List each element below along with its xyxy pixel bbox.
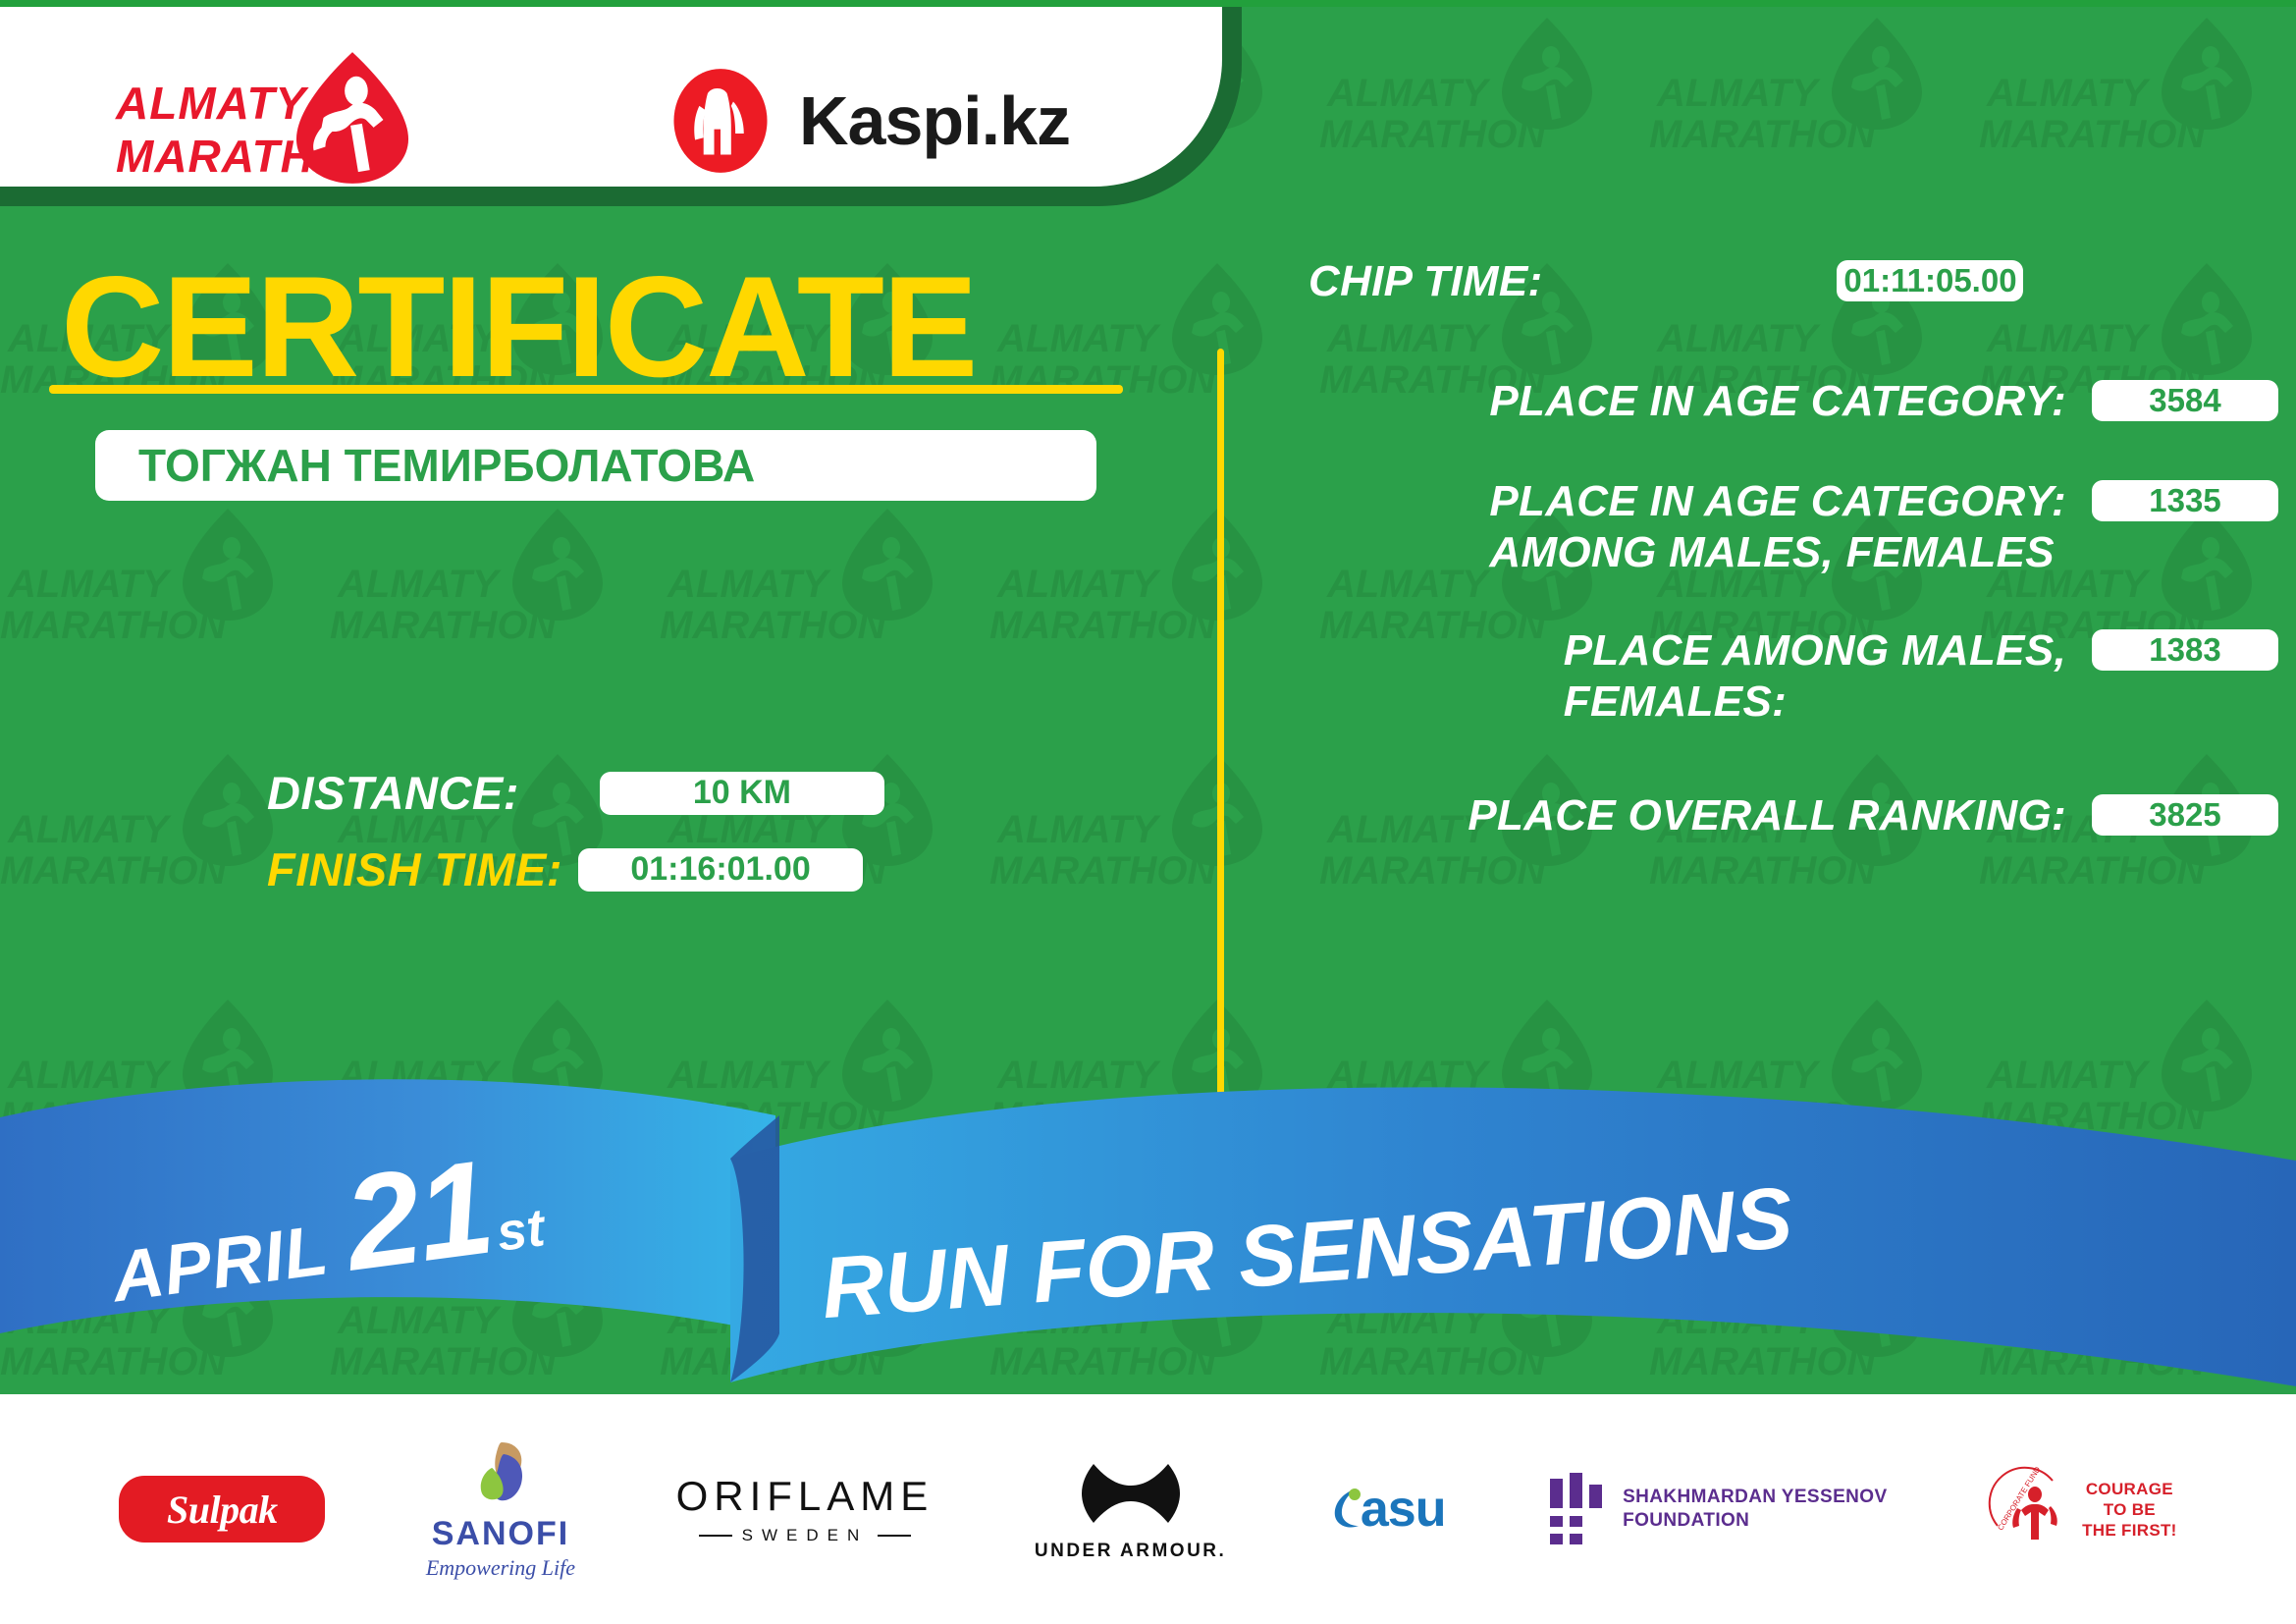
- title-underline: [49, 385, 1123, 394]
- page-title: CERTIFICATE: [61, 253, 976, 401]
- sponsor-logo-courage-to-be-the-first: CORPORATE FUND COURAGE TO BE THE FIRST!: [1988, 1465, 2177, 1553]
- participant-name-field: ТОГЖАН ТЕМИРБОЛАТОВА: [95, 430, 1096, 501]
- sanofi-mark-icon: [462, 1438, 539, 1513]
- sponsor-logo-sulpak: Sulpak: [119, 1476, 325, 1543]
- sponsor-bar: Sulpak SANOFI Empowering Life ORIFLAME S…: [0, 1394, 2296, 1624]
- asu-swoosh-icon: [1327, 1483, 1364, 1536]
- almaty-marathon-logo: ALMATYMARATHON: [116, 61, 440, 189]
- fund-line2: TO BE: [2104, 1500, 2156, 1519]
- result-value: 3825: [2092, 794, 2278, 836]
- result-value: 3584: [2092, 380, 2278, 421]
- under-armour-mark-icon: [1068, 1456, 1194, 1533]
- sponsor-logo-shakhmardan-yessenov-foundation: SHAKHMARDAN YESSENOV FOUNDATION: [1546, 1473, 1887, 1545]
- courage-fund-logo-text: COURAGE TO BE THE FIRST!: [2082, 1479, 2177, 1541]
- shakhmardan-line2: FOUNDATION: [1623, 1510, 1749, 1531]
- runner-drop-icon: [294, 49, 410, 187]
- result-value: 1335: [2092, 480, 2278, 521]
- distance-row: DISTANCE: 10 KM: [0, 766, 1222, 820]
- oriflame-logo-text: ORIFLAME: [676, 1473, 934, 1520]
- result-value: 1383: [2092, 629, 2278, 671]
- results-panel: CHIP TIME: 01:11:05.00 PLACE IN AGE CATE…: [1261, 241, 2296, 1124]
- event-month: APRIL: [108, 1210, 334, 1318]
- distance-label: DISTANCE:: [267, 766, 519, 820]
- sponsor-logo-asu: asu: [1327, 1480, 1446, 1539]
- top-green-rule: [0, 0, 2296, 7]
- kaspi-person-icon: [667, 68, 774, 174]
- finish-time-row: FINISH TIME: 01:16:01.00: [0, 842, 1222, 896]
- vertical-divider: [1217, 349, 1224, 1095]
- result-row: PLACE IN AGE CATEGORY: 3584: [1261, 376, 2296, 427]
- result-row: PLACE OVERALL RANKING: 3825: [1261, 790, 2296, 841]
- shakhmardan-logo-text: SHAKHMARDAN YESSENOV FOUNDATION: [1623, 1486, 1887, 1533]
- oriflame-sub-text: SWEDEN: [742, 1526, 869, 1545]
- result-row: PLACE IN AGE CATEGORY:AMONG MALES, FEMAL…: [1261, 476, 2296, 578]
- distance-value: 10 KM: [600, 772, 884, 815]
- almaty-logo-line1: ALMATY: [116, 78, 306, 129]
- result-label: PLACE AMONG MALES,FEMALES:: [1564, 625, 2066, 728]
- result-label: CHIP TIME:: [1308, 256, 1542, 307]
- kaspi-logo: Kaspi.kz: [667, 67, 1070, 175]
- sponsor-logo-under-armour: UNDER ARMOUR.: [1035, 1456, 1226, 1562]
- participant-name-value: ТОГЖАН ТЕМИРБОЛАТОВА: [138, 439, 755, 492]
- result-value: 01:11:05.00: [1837, 260, 2023, 301]
- finish-time-label: FINISH TIME:: [267, 842, 562, 896]
- result-label: PLACE OVERALL RANKING:: [1468, 790, 2066, 841]
- asu-logo-text: asu: [1361, 1480, 1446, 1539]
- event-day-suffix: st: [494, 1197, 549, 1264]
- sanofi-logo-text: SANOFI: [432, 1515, 569, 1553]
- result-row: PLACE AMONG MALES,FEMALES: 1383: [1261, 625, 2296, 728]
- shakhmardan-line1: SHAKHMARDAN YESSENOV: [1623, 1487, 1887, 1507]
- courage-fund-icon: CORPORATE FUND: [1988, 1465, 2072, 1553]
- oriflame-rule-left: [699, 1535, 732, 1537]
- sulpak-logo-text: Sulpak: [167, 1487, 278, 1533]
- result-label: PLACE IN AGE CATEGORY:: [1489, 376, 2066, 427]
- left-column: CERTIFICATE ТОГЖАН ТЕМИРБОЛАТОВА DISTANC…: [0, 226, 1222, 1168]
- oriflame-sub-wrap: SWEDEN: [699, 1526, 912, 1545]
- under-armour-logo-text: UNDER ARMOUR.: [1035, 1541, 1226, 1562]
- result-label: PLACE IN AGE CATEGORY:AMONG MALES, FEMAL…: [1489, 476, 2066, 578]
- fund-line1: COURAGE: [2086, 1480, 2173, 1498]
- finish-time-value: 01:16:01.00: [578, 848, 863, 892]
- sponsor-logo-oriflame: ORIFLAME SWEDEN: [676, 1473, 934, 1545]
- fund-line3: THE FIRST!: [2082, 1521, 2177, 1540]
- certificate-canvas: ALMATYMARATHON Kaspi.kz CERTIFICATE ТОГЖ…: [0, 0, 2296, 1624]
- oriflame-rule-right: [878, 1535, 911, 1537]
- kaspi-logo-text: Kaspi.kz: [799, 81, 1070, 160]
- shakhmardan-mark-icon: [1546, 1473, 1607, 1545]
- event-day: 21: [337, 1130, 500, 1301]
- sponsor-logo-sanofi: SANOFI Empowering Life: [426, 1438, 575, 1581]
- result-row: CHIP TIME: 01:11:05.00: [1261, 256, 2296, 307]
- sanofi-tagline: Empowering Life: [426, 1555, 575, 1581]
